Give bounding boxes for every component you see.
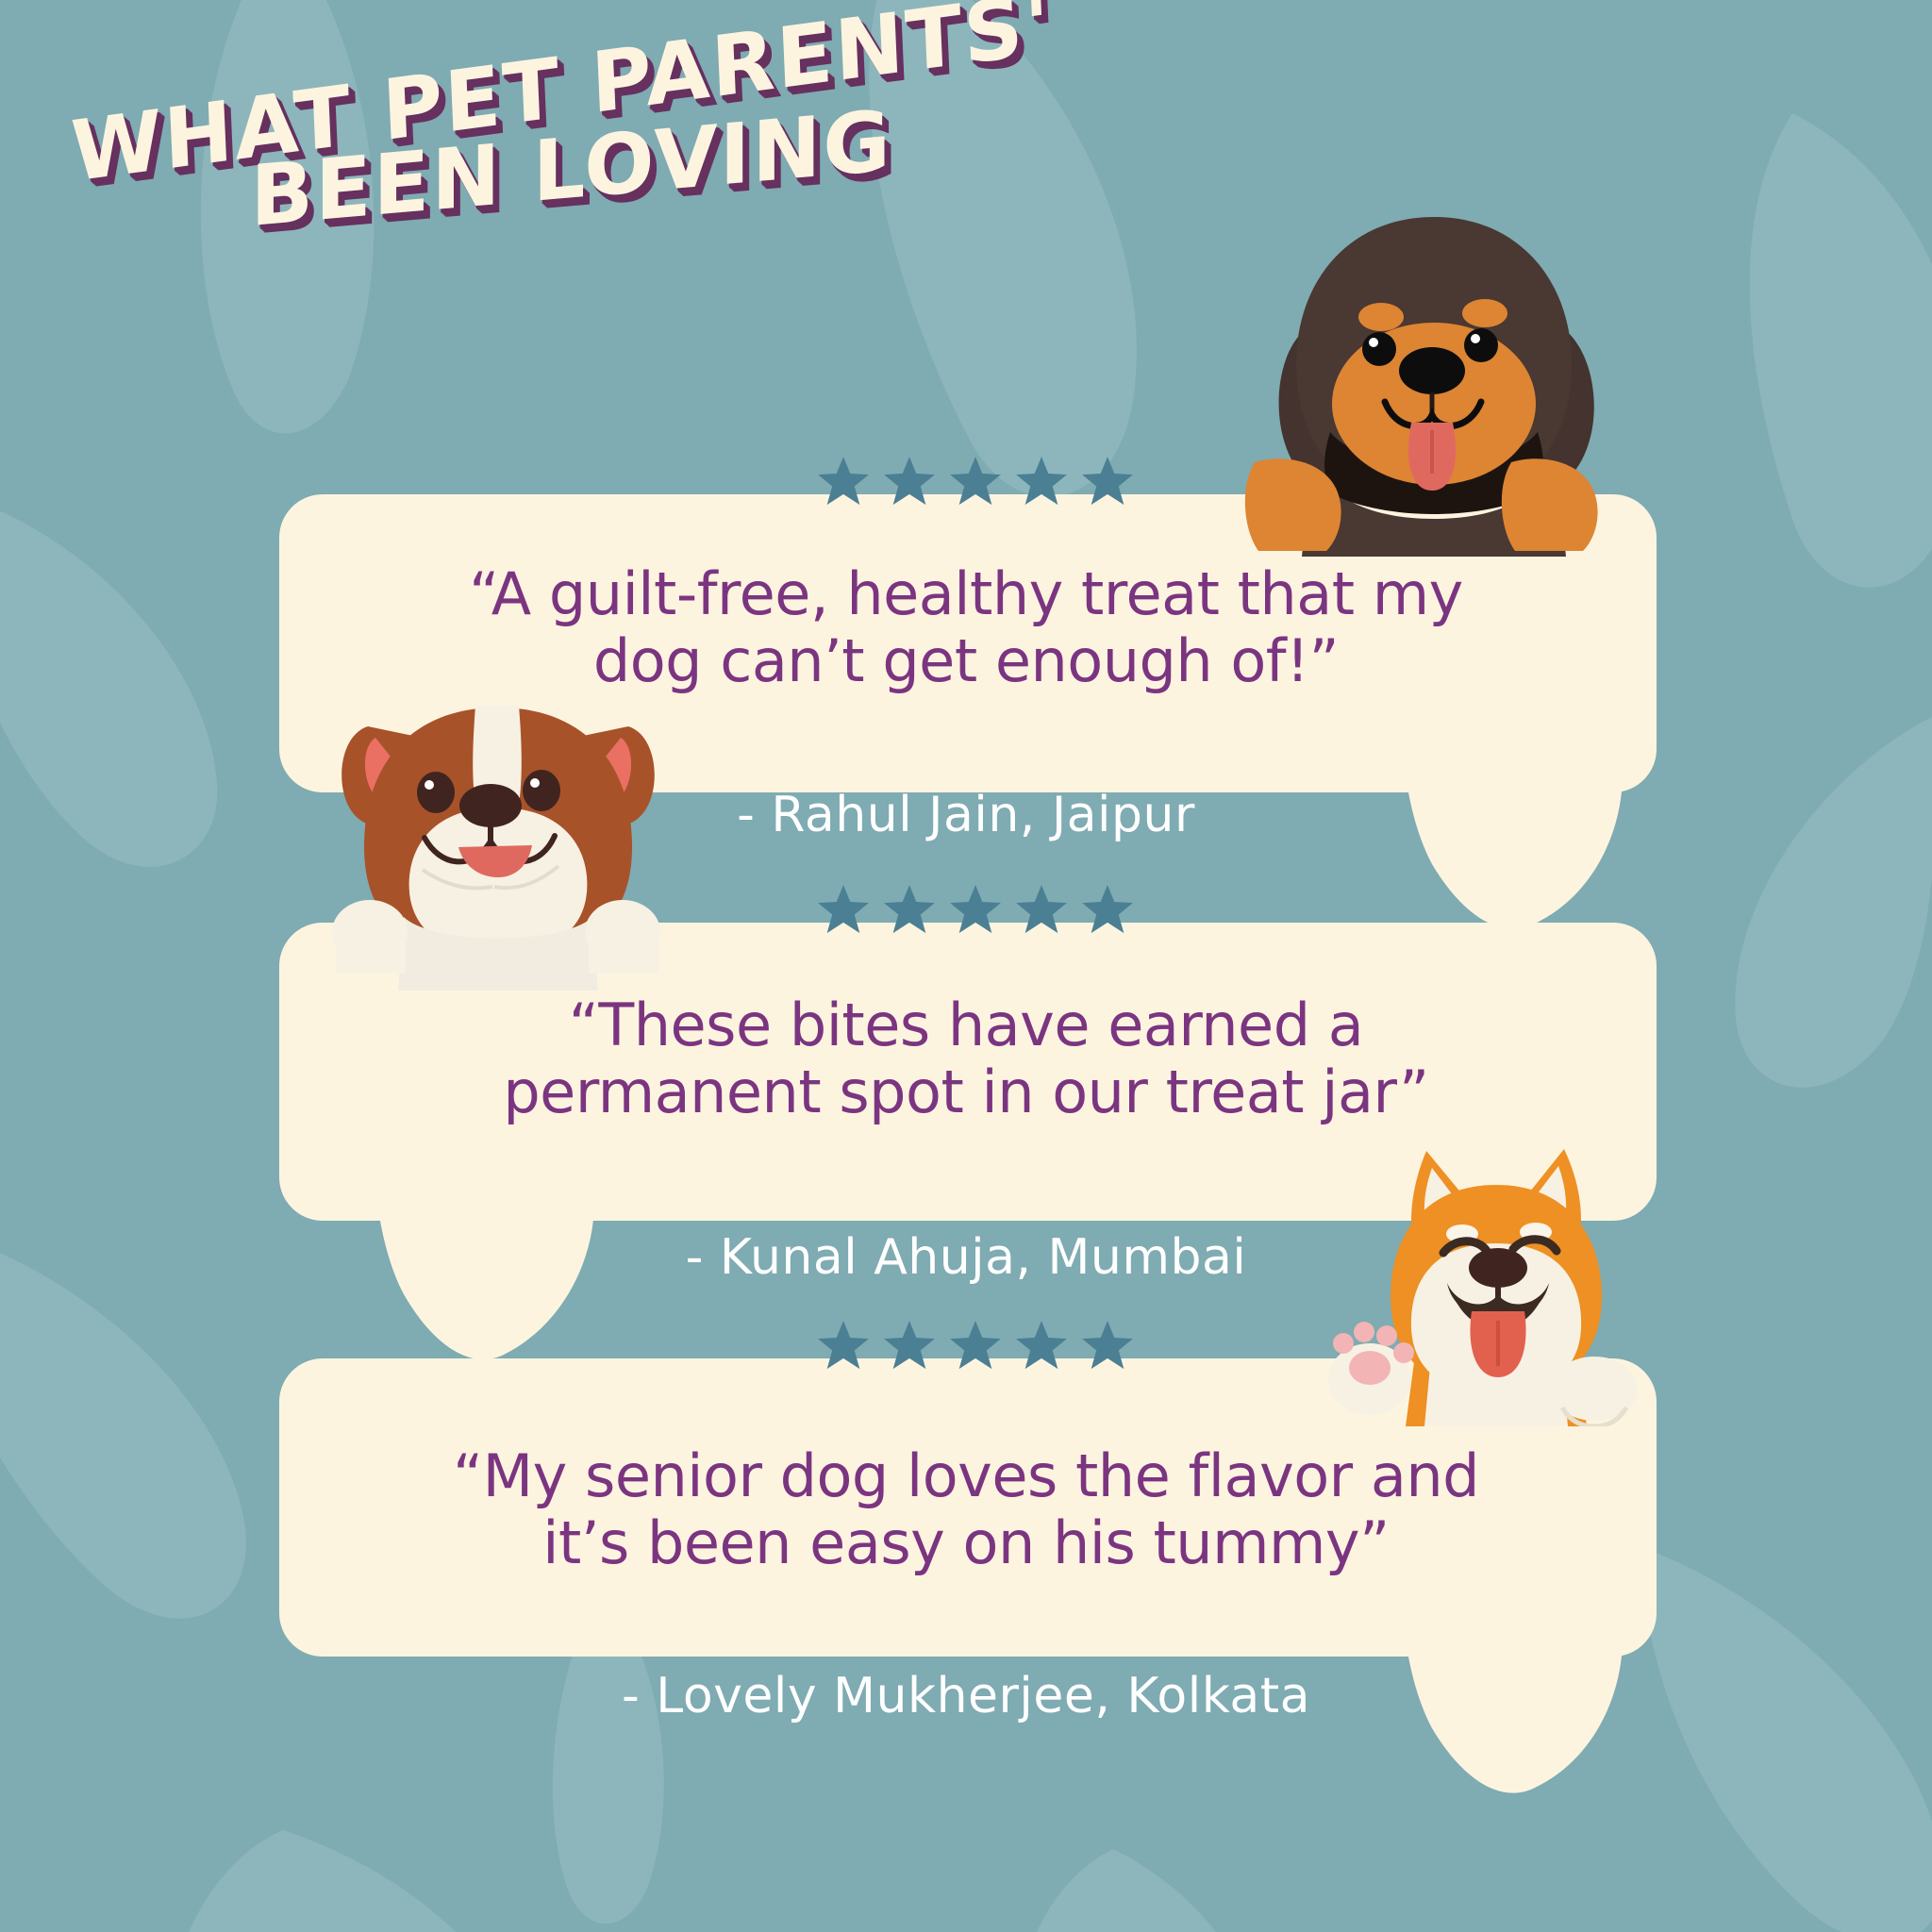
star-icon — [1081, 1320, 1134, 1373]
testimonial-quote-3: “My senior dog loves the flavor and it’s… — [0, 1443, 1932, 1576]
star-icon — [949, 456, 1002, 508]
star-icon — [883, 884, 936, 937]
testimonial-attribution-3: - Lovely Mukherjee, Kolkata — [0, 1668, 1932, 1724]
shiba-inu-dog — [1324, 1143, 1645, 1426]
quote-line-1: “My senior dog loves the flavor and — [0, 1443, 1932, 1510]
star-rating-2 — [817, 884, 1134, 937]
quote-line-2: it’s been easy on his tummy” — [0, 1510, 1932, 1577]
testimonial-quote-2: “These bites have earned a permanent spo… — [0, 992, 1932, 1125]
testimonial-poster: WHAT PET PARENTS' BEEN LOVING “A guilt-f… — [0, 0, 1932, 1932]
star-icon — [817, 456, 870, 508]
star-icon — [1015, 884, 1068, 937]
star-icon — [1015, 1320, 1068, 1373]
quote-line-2: dog can’t get enough of!” — [0, 628, 1932, 695]
bulldog-dog — [328, 698, 668, 991]
star-icon — [1081, 884, 1134, 937]
star-rating-3 — [817, 1320, 1134, 1373]
star-icon — [817, 1320, 870, 1373]
star-icon — [949, 1320, 1002, 1373]
star-rating-1 — [817, 456, 1134, 508]
quote-line-1: “These bites have earned a — [0, 992, 1932, 1059]
star-icon — [949, 884, 1002, 937]
rottweiler-dog — [1236, 179, 1632, 557]
star-icon — [817, 884, 870, 937]
star-icon — [883, 1320, 936, 1373]
star-icon — [1081, 456, 1134, 508]
star-icon — [1015, 456, 1068, 508]
quote-line-2: permanent spot in our treat jar” — [0, 1059, 1932, 1126]
testimonial-quote-1: “A guilt-free, healthy treat that my dog… — [0, 561, 1932, 694]
quote-line-1: “A guilt-free, healthy treat that my — [0, 561, 1932, 628]
testimonial-attribution-1: - Rahul Jain, Jaipur — [0, 787, 1932, 843]
star-icon — [883, 456, 936, 508]
